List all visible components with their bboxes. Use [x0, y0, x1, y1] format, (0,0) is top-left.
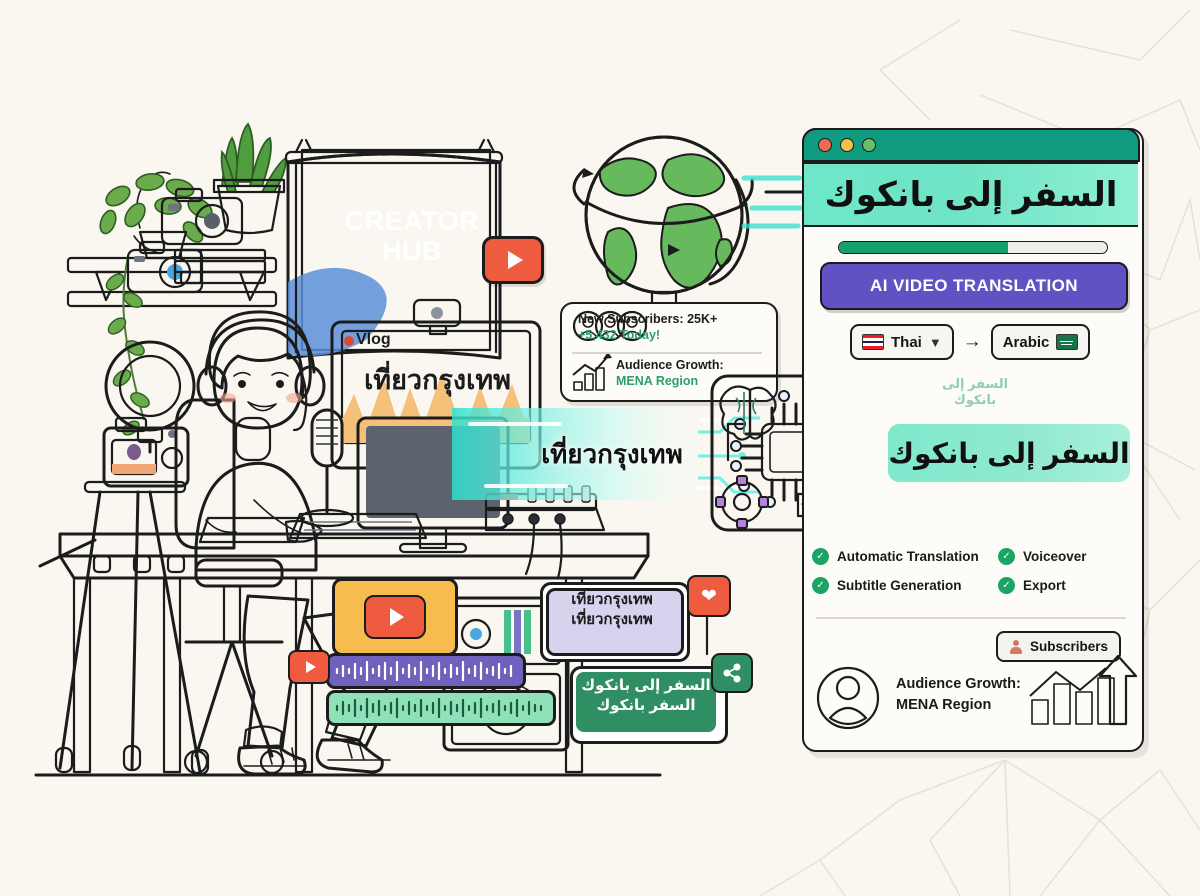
panel-footer-graphics — [0, 0, 1200, 896]
growth-chart-graphic — [1030, 656, 1136, 724]
audience-growth-line-1: Audience Growth: — [896, 676, 1021, 692]
audience-growth-text: Audience Growth: MENA Region — [896, 674, 1036, 716]
avatar — [818, 668, 878, 728]
illustration-canvas: CREATOR HUB Vlog เที่ยวกรุงเทพ — [0, 0, 1200, 896]
audience-growth-line-2: MENA Region — [896, 697, 991, 713]
